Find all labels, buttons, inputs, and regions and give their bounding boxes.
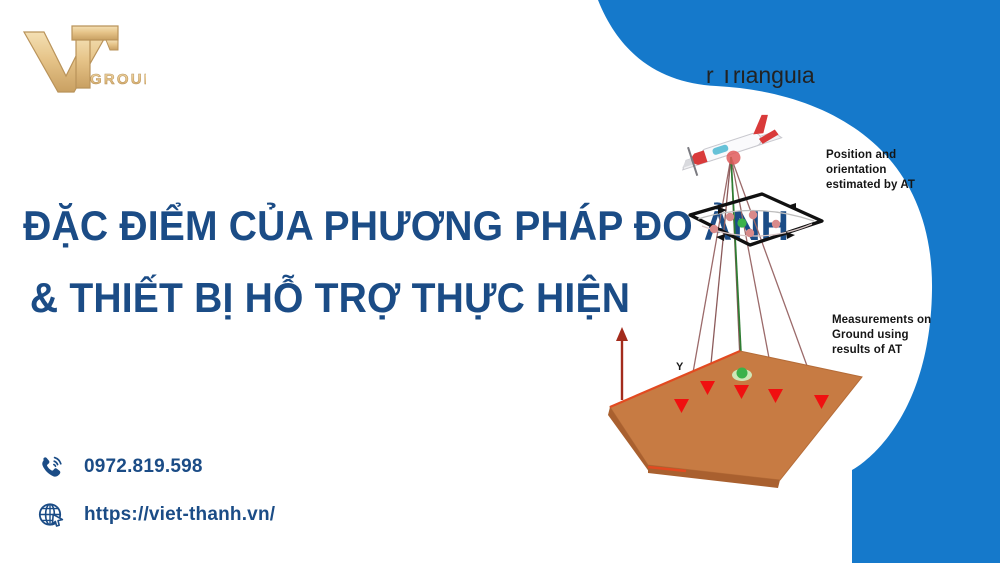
axis-label-y: Y [676,361,683,373]
image-plane-parallelogram [690,194,822,245]
contact-row-phone[interactable]: 0972.819.598 [36,452,275,482]
diagram-heading-clipped: r Triangula [706,70,936,96]
headline-line-1: ĐẶC ĐIỂM CỦA PHƯƠNG PHÁP ĐO ẢNH [23,190,637,262]
contact-row-website[interactable]: https://viet-thanh.vn/ [36,500,275,530]
phone-number: 0972.819.598 [84,456,203,478]
headline-line-2: & THIẾT BỊ HỖ TRỢ THỰC HIỆN [23,262,637,334]
aerial-triangulation-diagram [590,55,990,510]
caption-position-orientation: Position and orientation estimated by AT [826,148,915,193]
contact-block: 0972.819.598 https://viet-thanh.vn/ [36,452,275,530]
page-title: ĐẶC ĐIỂM CỦA PHƯƠNG PHÁP ĐO ẢNH & THIẾT … [0,190,660,334]
caption-ground-measurements: Measurements on Ground using results of … [832,313,931,358]
z-axis-arrow [616,327,628,400]
diagram-heading-text: r Triangula [706,70,936,89]
logo[interactable]: GROUP [14,14,146,94]
globe-cursor-icon [36,500,66,530]
website-url: https://viet-thanh.vn/ [84,504,275,526]
banner-root: GROUP ĐẶC ĐIỂM CỦA PHƯƠNG PHÁP ĐO ẢNH & … [0,0,1000,563]
green-control-point [737,218,746,227]
logo-wordmark: GROUP [90,71,146,88]
phone-ringing-icon [36,452,66,482]
